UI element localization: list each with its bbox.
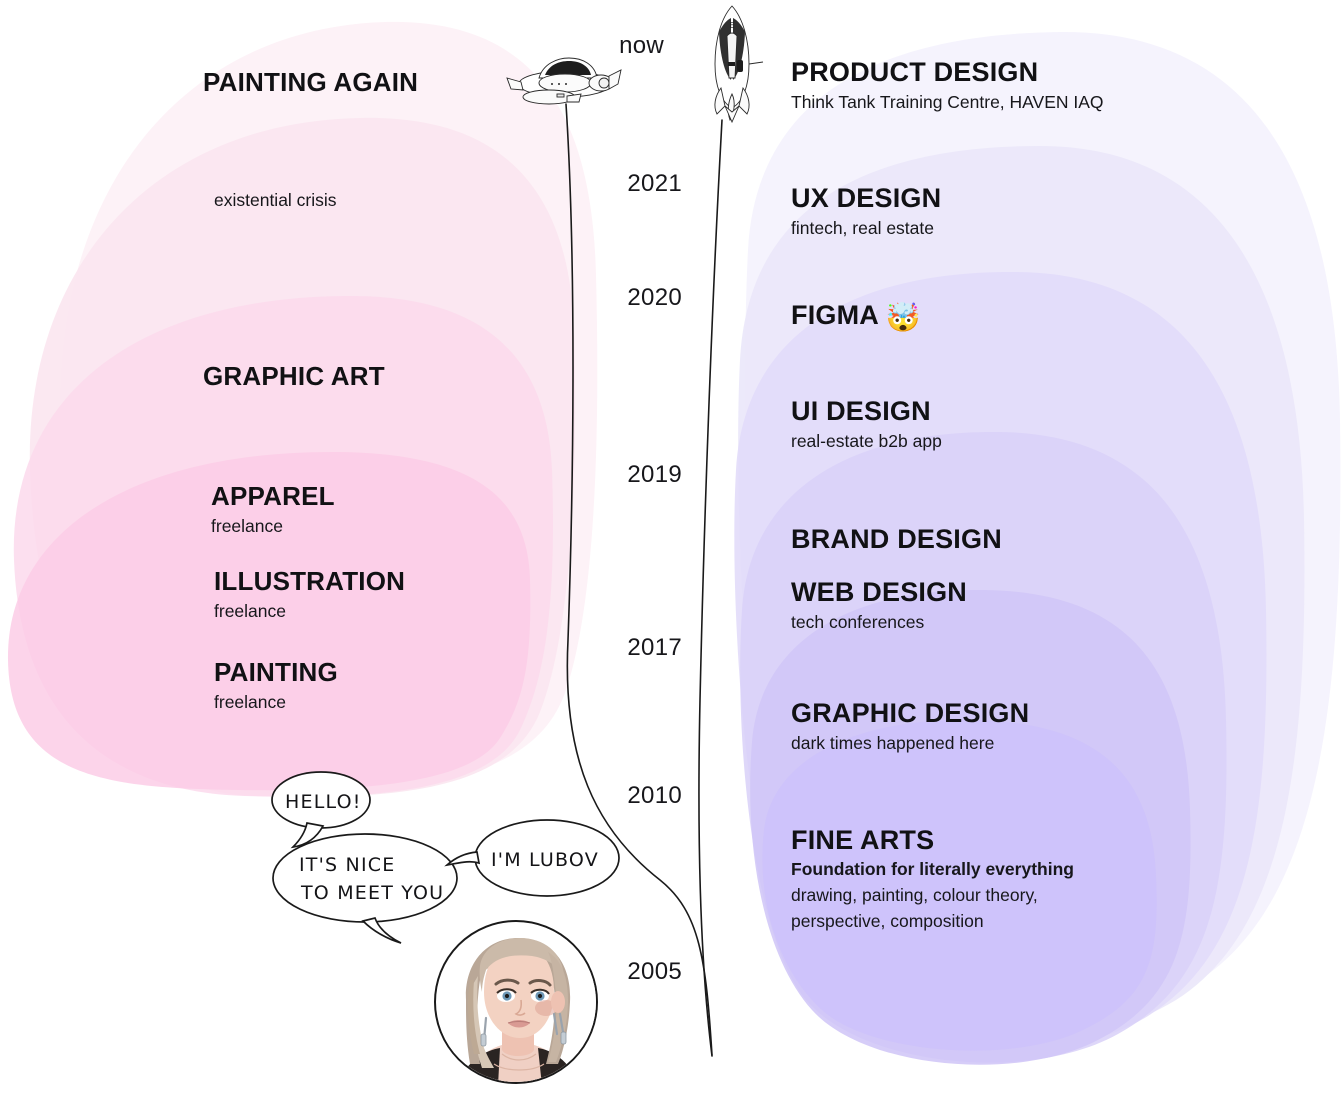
left-entry-apparel: APPAREL freelance [211,482,335,538]
entry-subtitle: drawing, painting, colour theory, [791,884,1074,907]
timeline-curves [0,0,1344,1114]
right-entry-web-design: WEB DESIGN tech conferences [791,577,967,634]
pink-blob-group [0,0,1344,1114]
year-label: 2020 [598,284,682,312]
right-entry-figma: FIGMA 🤯 [791,300,921,332]
entry-title: UI DESIGN [791,396,942,427]
entry-subtitle-extra: perspective, composition [791,910,1074,933]
right-entry-graphic-design: GRAPHIC DESIGN dark times happened here [791,698,1029,755]
rocket-icon: E [697,2,767,132]
infographic-canvas: E now 2021 2020 2019 2017 2010 2005 PAIN… [0,0,1344,1114]
entry-title: BRAND DESIGN [791,524,1002,555]
right-entry-brand-design: BRAND DESIGN [791,524,1002,555]
year-label: 2017 [598,634,682,662]
purple-blob-group [0,0,1344,1114]
speech-bubble-nice-line1: IT'S NICE [299,854,395,876]
right-entry-fine-arts: FINE ARTS Foundation for literally every… [791,825,1074,933]
year-label: 2005 [598,958,682,986]
entry-subtitle: freelance [214,600,405,623]
speech-bubble-group: HELLO! IT'S NICE TO MEET YOU I'M LUBOV [255,765,635,945]
year-label: 2021 [598,170,682,198]
left-entry-existential-crisis: existential crisis [214,186,337,212]
entry-title: PAINTING [214,658,338,688]
entry-title: ILLUSTRATION [214,567,405,597]
speech-bubble-hello-text: HELLO! [285,791,362,813]
entry-subtitle: tech conferences [791,611,967,634]
speech-bubble-lubov-tail [447,852,479,865]
avatar [434,920,598,1084]
entry-title: UX DESIGN [791,183,941,214]
left-entry-painting-again: PAINTING AGAIN [203,68,418,98]
entry-subtitle: existential crisis [214,189,337,212]
entry-subtitle: freelance [211,515,335,538]
entry-title: GRAPHIC ART [203,362,385,392]
entry-title: WEB DESIGN [791,577,967,608]
left-entry-painting: PAINTING freelance [214,658,338,714]
year-label: now [598,32,664,60]
svg-text:E: E [729,21,734,30]
avatar-illustration [436,922,598,1084]
entry-title: GRAPHIC DESIGN [791,698,1029,729]
entry-title: FINE ARTS [791,825,1074,856]
speech-bubble-nice-line2: TO MEET YOU [300,882,444,904]
right-entry-product-design: PRODUCT DESIGN Think Tank Training Centr… [791,57,1104,114]
left-entry-graphic-art: GRAPHIC ART [203,362,385,392]
left-entry-illustration: ILLUSTRATION freelance [214,567,405,623]
entry-title: PAINTING AGAIN [203,68,418,98]
year-label: 2019 [598,461,682,489]
entry-title-text: FIGMA [791,300,878,330]
right-entry-ui-design: UI DESIGN real-estate b2b app [791,396,942,453]
entry-subtitle: Think Tank Training Centre, HAVEN IAQ [791,91,1104,114]
purple-blob-3 [734,272,1266,1052]
entry-bold-line: Foundation for literally everything [791,858,1074,881]
right-entry-ux-design: UX DESIGN fintech, real estate [791,183,941,240]
rocket-trail-line [699,120,722,1056]
entry-subtitle: fintech, real estate [791,217,941,240]
entry-title: FIGMA 🤯 [791,300,921,332]
entry-title: APPAREL [211,482,335,512]
speech-bubble-lubov-text: I'M LUBOV [491,849,599,871]
entry-subtitle: dark times happened here [791,732,1029,755]
entry-subtitle: freelance [214,691,338,714]
speech-bubble-nice [273,834,457,922]
entry-subtitle: real-estate b2b app [791,430,942,453]
entry-title: PRODUCT DESIGN [791,57,1104,88]
exploding-head-icon: 🤯 [886,302,921,333]
